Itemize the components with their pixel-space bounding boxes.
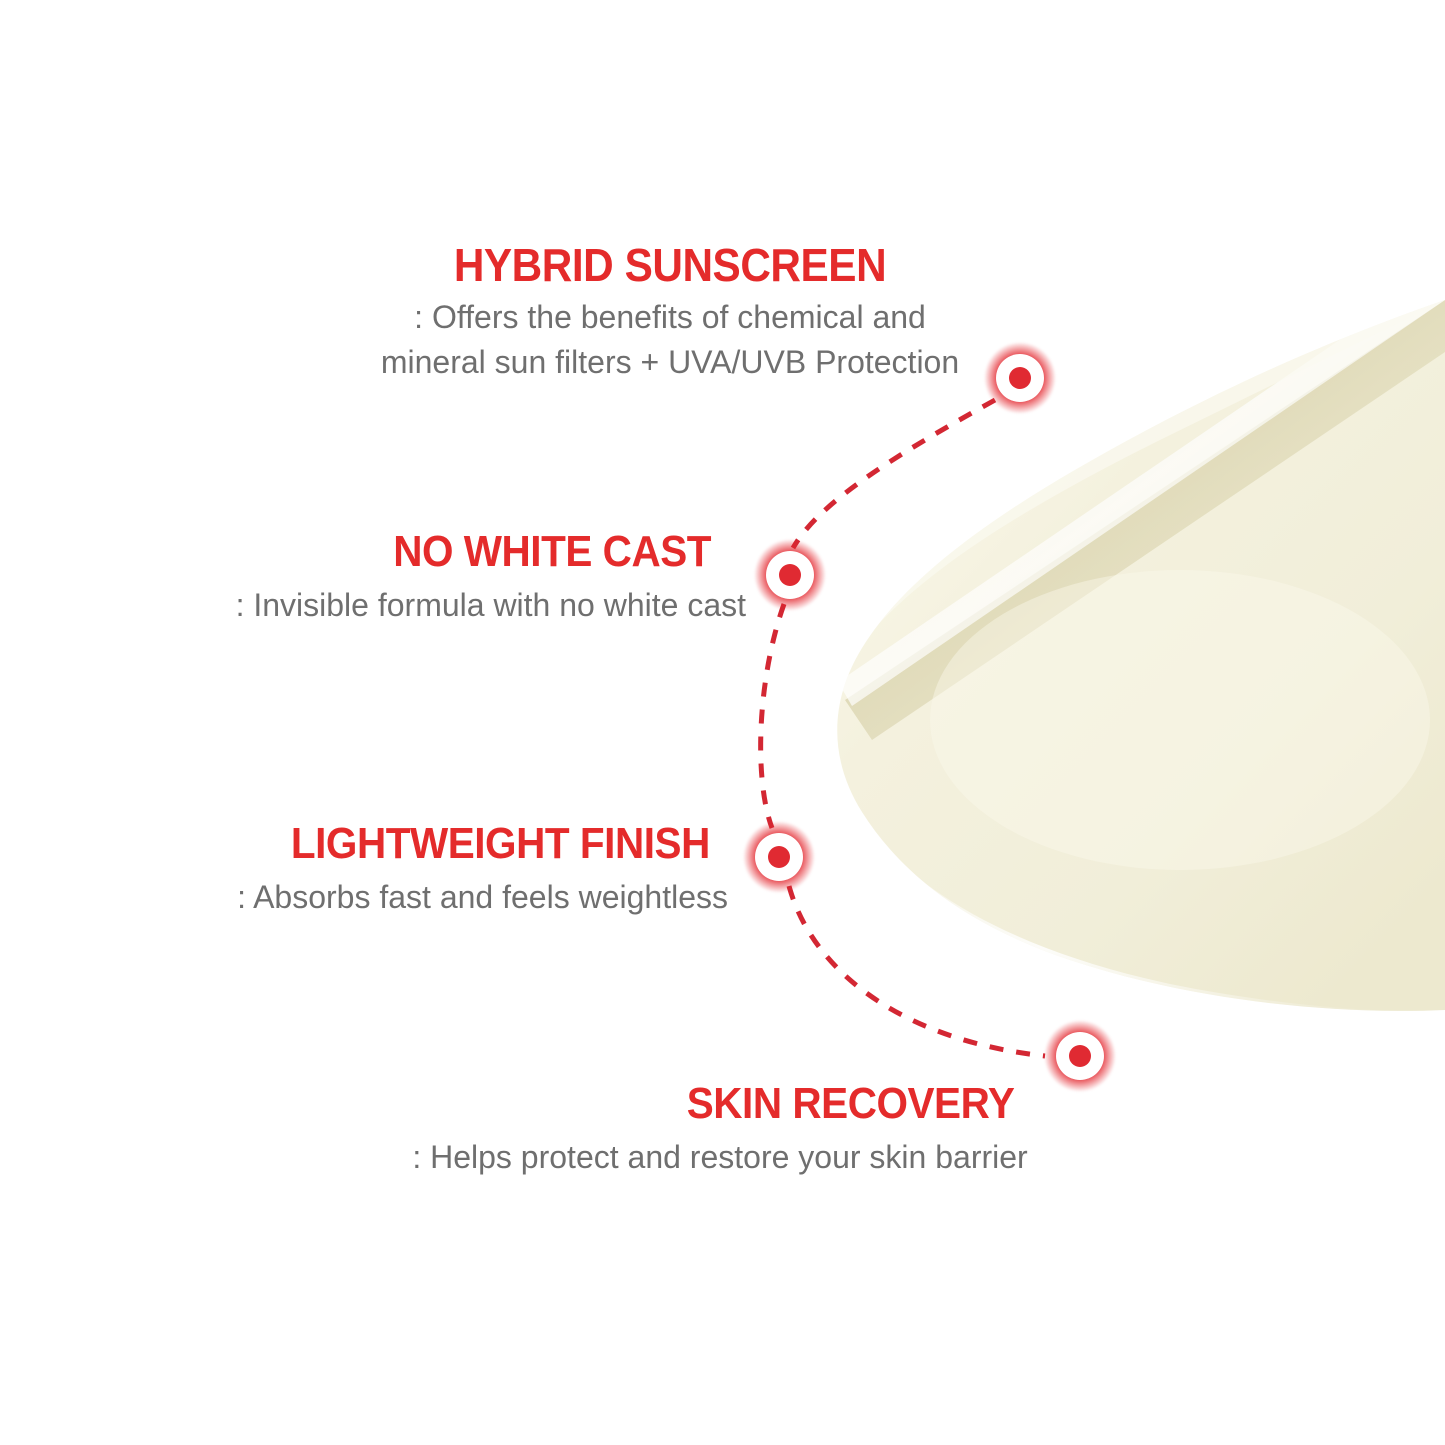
feature-title: NO WHITE CAST [194, 530, 746, 575]
feature-title: LIGHTWEIGHT FINISH [174, 822, 735, 867]
feature-description: : Absorbs fast and feels weightless [150, 877, 760, 917]
feature-block-hybrid-sunscreen: HYBRID SUNSCREEN : Offers the benefits o… [330, 242, 1010, 382]
dashed-connector-path [0, 0, 1445, 1445]
feature-description-line-2: mineral sun filters + UVA/UVB Protection [330, 342, 1010, 382]
marker-dot-icon [1069, 1045, 1091, 1067]
feature-block-skin-recovery: SKIN RECOVERY : Helps protect and restor… [390, 1082, 1050, 1177]
feature-block-lightweight-finish: LIGHTWEIGHT FINISH : Absorbs fast and fe… [150, 822, 760, 917]
feature-marker-lightweight-finish [743, 821, 815, 893]
marker-dot-icon [1009, 367, 1031, 389]
infographic-canvas: HYBRID SUNSCREEN : Offers the benefits o… [0, 0, 1445, 1445]
feature-marker-skin-recovery [1044, 1020, 1116, 1092]
feature-description: : Helps protect and restore your skin ba… [390, 1137, 1050, 1177]
feature-description: : Invisible formula with no white cast [170, 585, 770, 625]
marker-dot-icon [768, 846, 790, 868]
feature-marker-hybrid-sunscreen [984, 342, 1056, 414]
marker-dot-icon [779, 564, 801, 586]
feature-description-line-1: : Offers the benefits of chemical and [414, 299, 926, 335]
feature-title: SKIN RECOVERY [416, 1082, 1023, 1127]
feature-block-no-white-cast: NO WHITE CAST : Invisible formula with n… [170, 530, 770, 625]
feature-title: HYBRID SUNSCREEN [357, 242, 983, 289]
feature-description: : Offers the benefits of chemical and mi… [330, 297, 1010, 382]
feature-marker-no-white-cast [754, 539, 826, 611]
